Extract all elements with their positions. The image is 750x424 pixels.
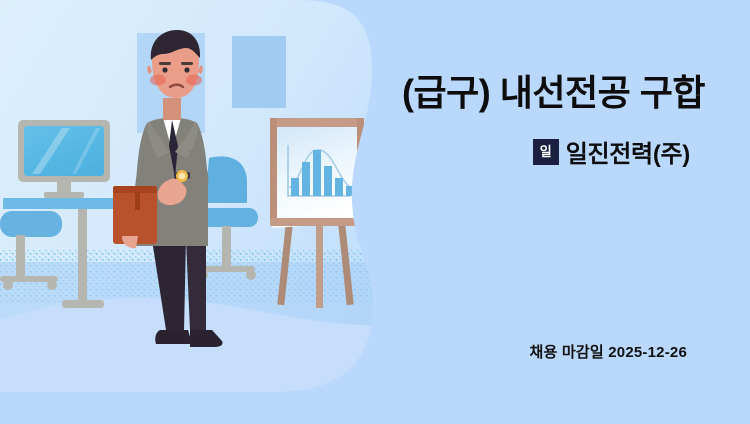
company-badge: 일 [533,139,559,165]
job-posting-banner: (급구) 내선전공 구합 일 일진전력(주) 채용 마감일 2025-12-26 [0,0,750,424]
page-title: (급구) 내선전공 구합 [402,72,705,113]
company-row[interactable]: 일 일진전력(주) [533,134,690,169]
company-name[interactable]: 일진전력(주) [566,134,690,169]
application-deadline: 채용 마감일 2025-12-26 [530,341,687,362]
office-illustration [0,0,425,424]
presentation-easel-with-chart [270,118,364,308]
